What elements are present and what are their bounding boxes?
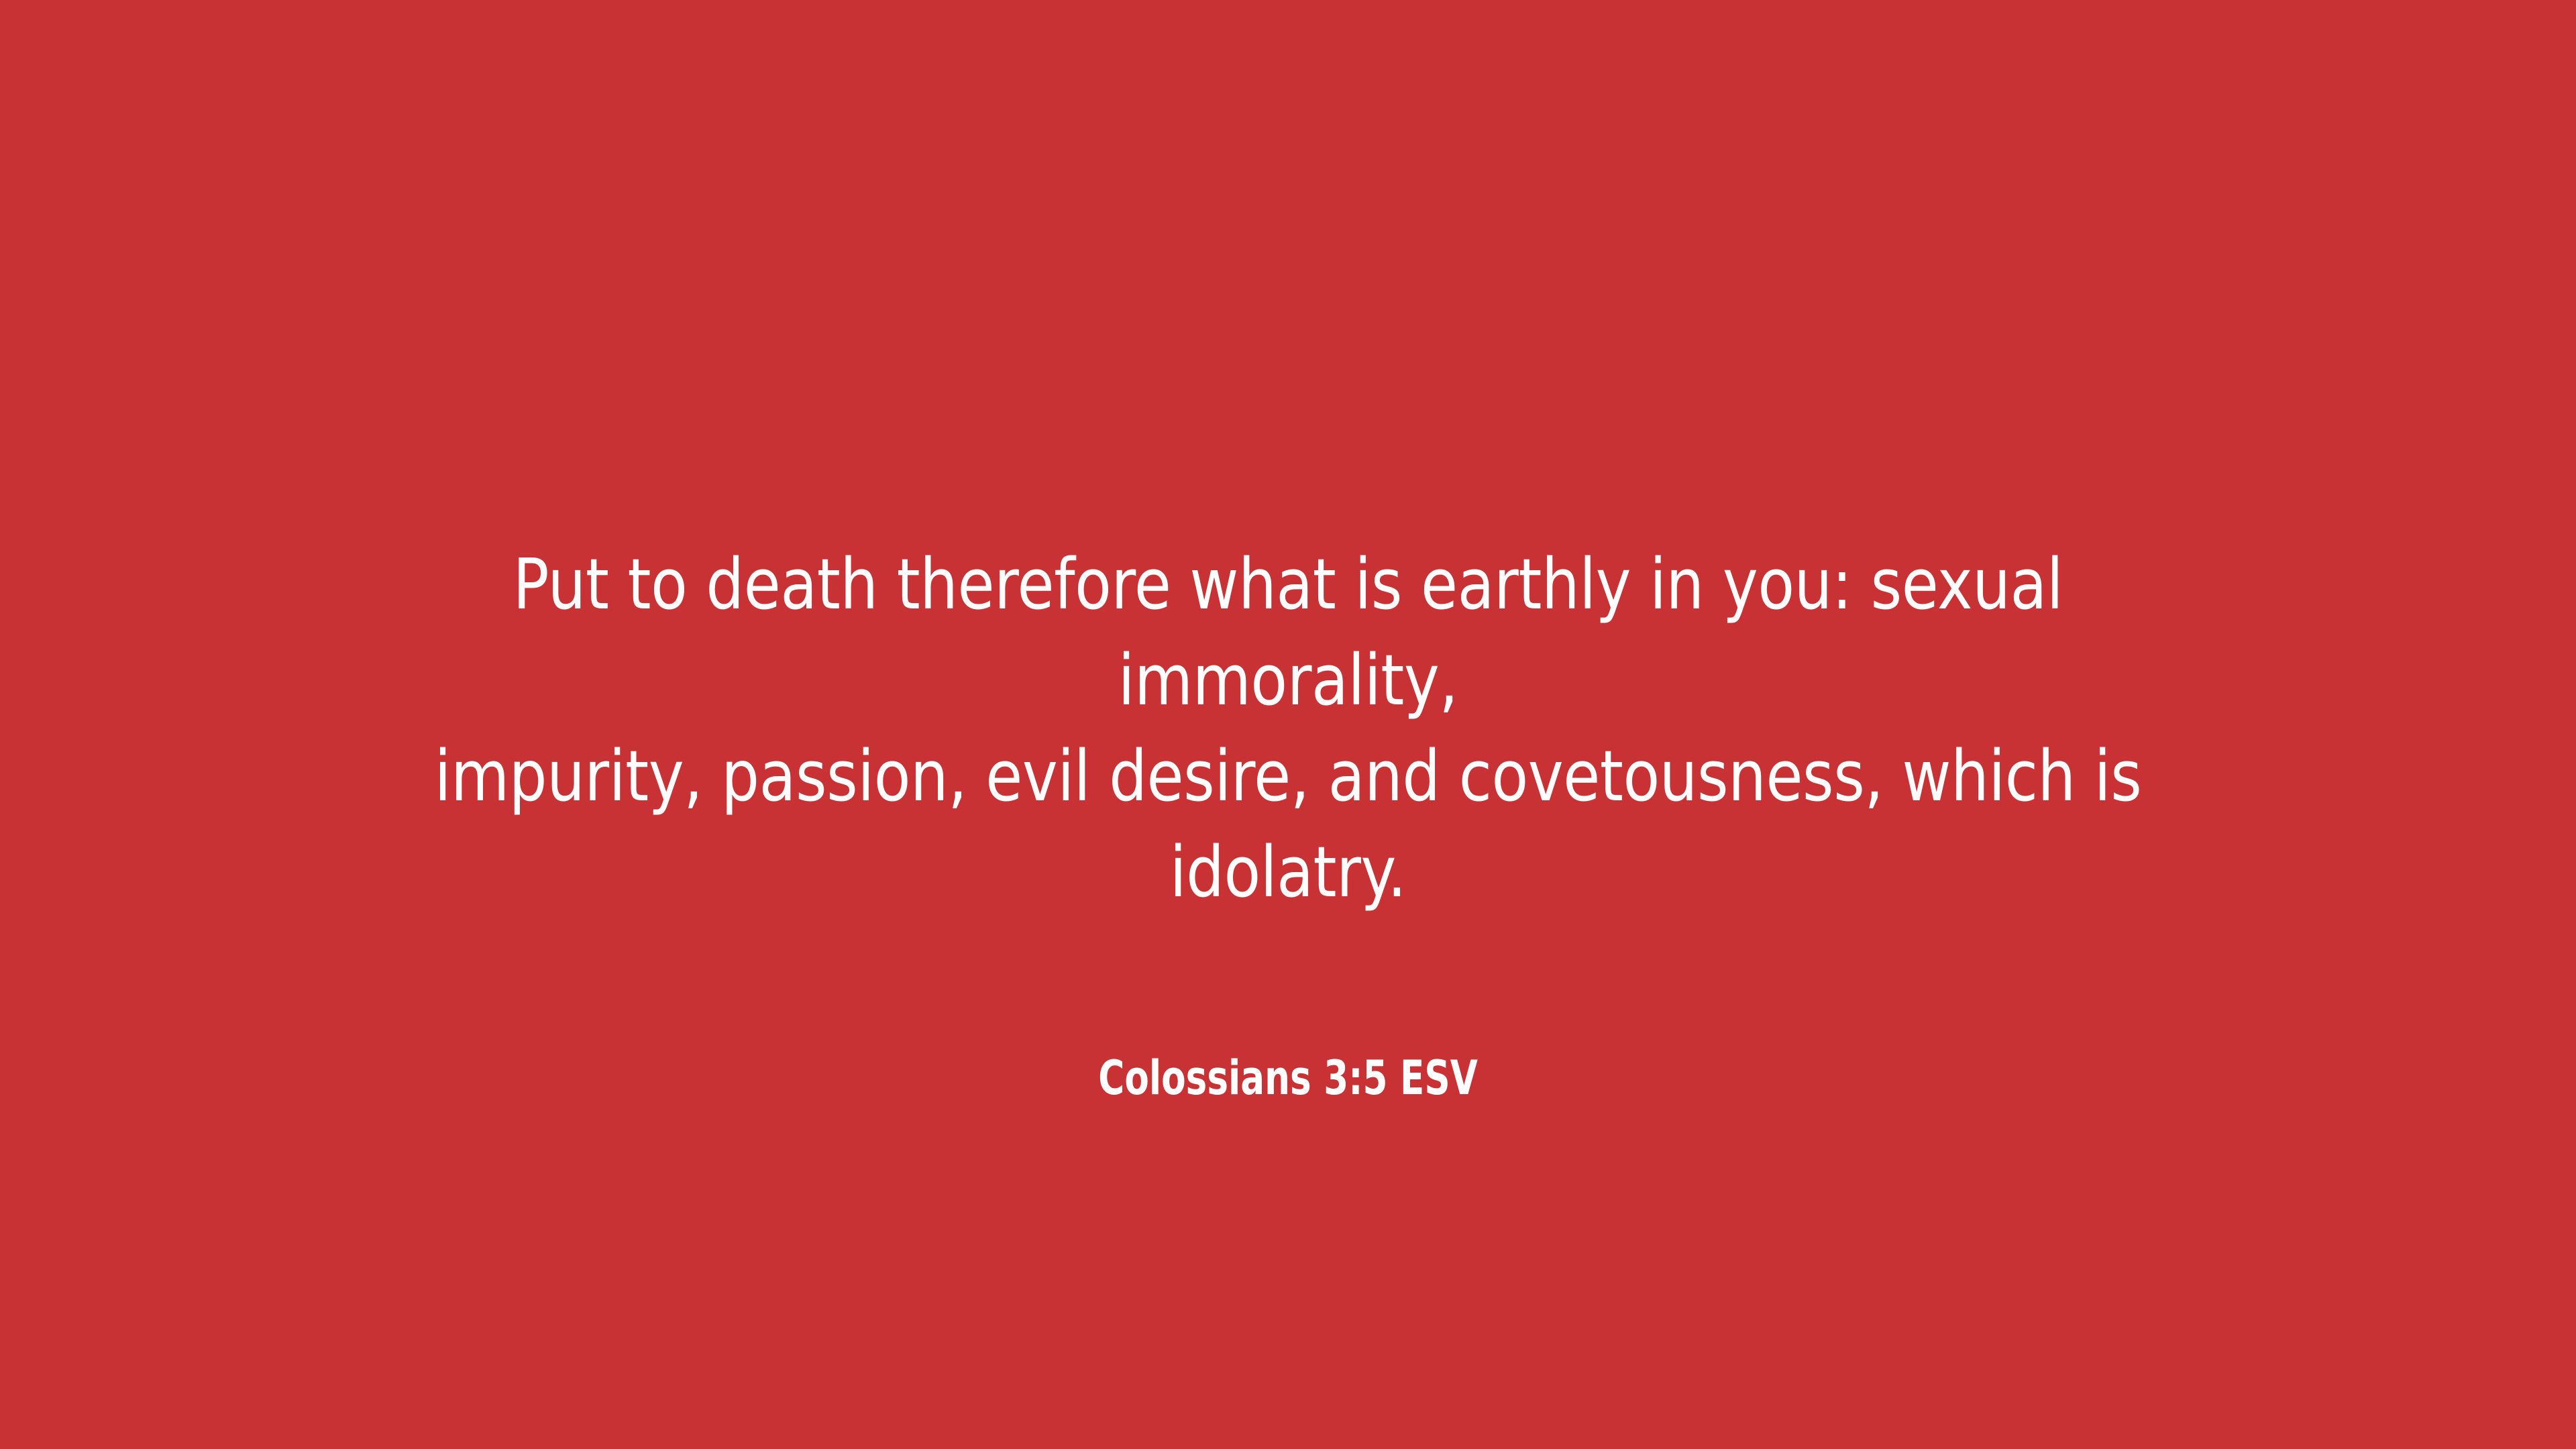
verse-block: Put to death therefore what is earthly i… [0,0,2576,1449]
verse-text: Put to death therefore what is earthly i… [394,537,2182,920]
scripture-graphic-canvas: Put to death therefore what is earthly i… [0,0,2576,1449]
verse-reference: Colossians 3:5 ESV [1098,1052,1478,1104]
